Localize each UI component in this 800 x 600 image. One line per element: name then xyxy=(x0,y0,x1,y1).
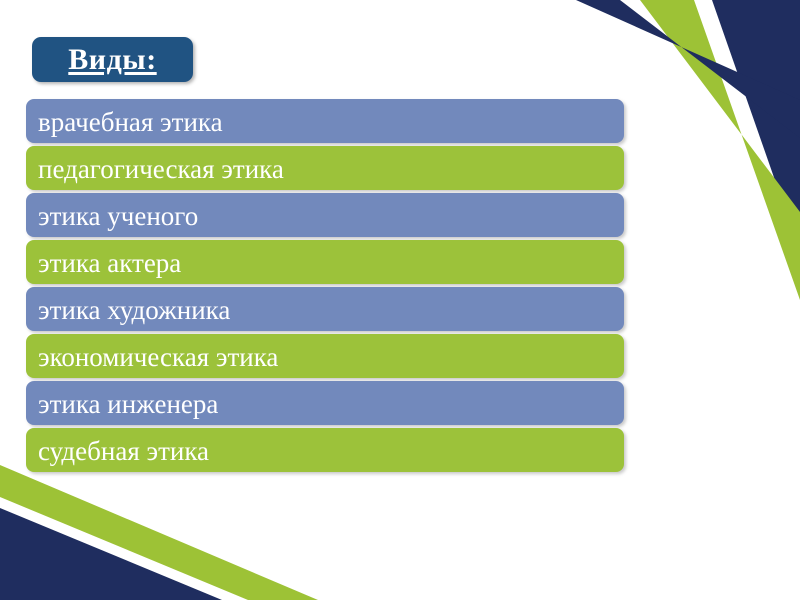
list-item-label: этика инженера xyxy=(38,391,218,418)
list-item-label: педагогическая этика xyxy=(38,156,284,183)
list-item[interactable]: этика художника xyxy=(26,287,624,331)
list-item[interactable]: этика ученого xyxy=(26,193,624,237)
green-wide-stripe-top-right xyxy=(640,0,800,300)
list-item-label: судебная этика xyxy=(38,438,209,465)
list-item[interactable]: этика инженера xyxy=(26,381,624,425)
slide-title-plate: Виды: xyxy=(32,37,193,82)
list-item[interactable]: этика актера xyxy=(26,240,624,284)
slide-canvas: Виды: врачебная этика педагогическая эти… xyxy=(0,0,800,600)
list-item[interactable]: врачебная этика xyxy=(26,99,624,143)
list-item-label: этика художника xyxy=(38,297,230,324)
list-item[interactable]: педагогическая этика xyxy=(26,146,624,190)
ethics-types-list: врачебная этика педагогическая этика эти… xyxy=(26,99,624,475)
list-item-label: этика актера xyxy=(38,250,181,277)
list-item[interactable]: судебная этика xyxy=(26,428,624,472)
list-item-label: этика ученого xyxy=(38,203,198,230)
green-wide-stripe-bottom-left xyxy=(0,465,318,600)
navy-corner-fill-bottom-left xyxy=(0,508,222,600)
navy-corner-fill-top-right xyxy=(712,0,800,252)
list-item-label: экономическая этика xyxy=(38,344,278,371)
page-title: Виды: xyxy=(68,45,156,75)
list-item[interactable]: экономическая этика xyxy=(26,334,624,378)
list-item-label: врачебная этика xyxy=(38,109,223,136)
